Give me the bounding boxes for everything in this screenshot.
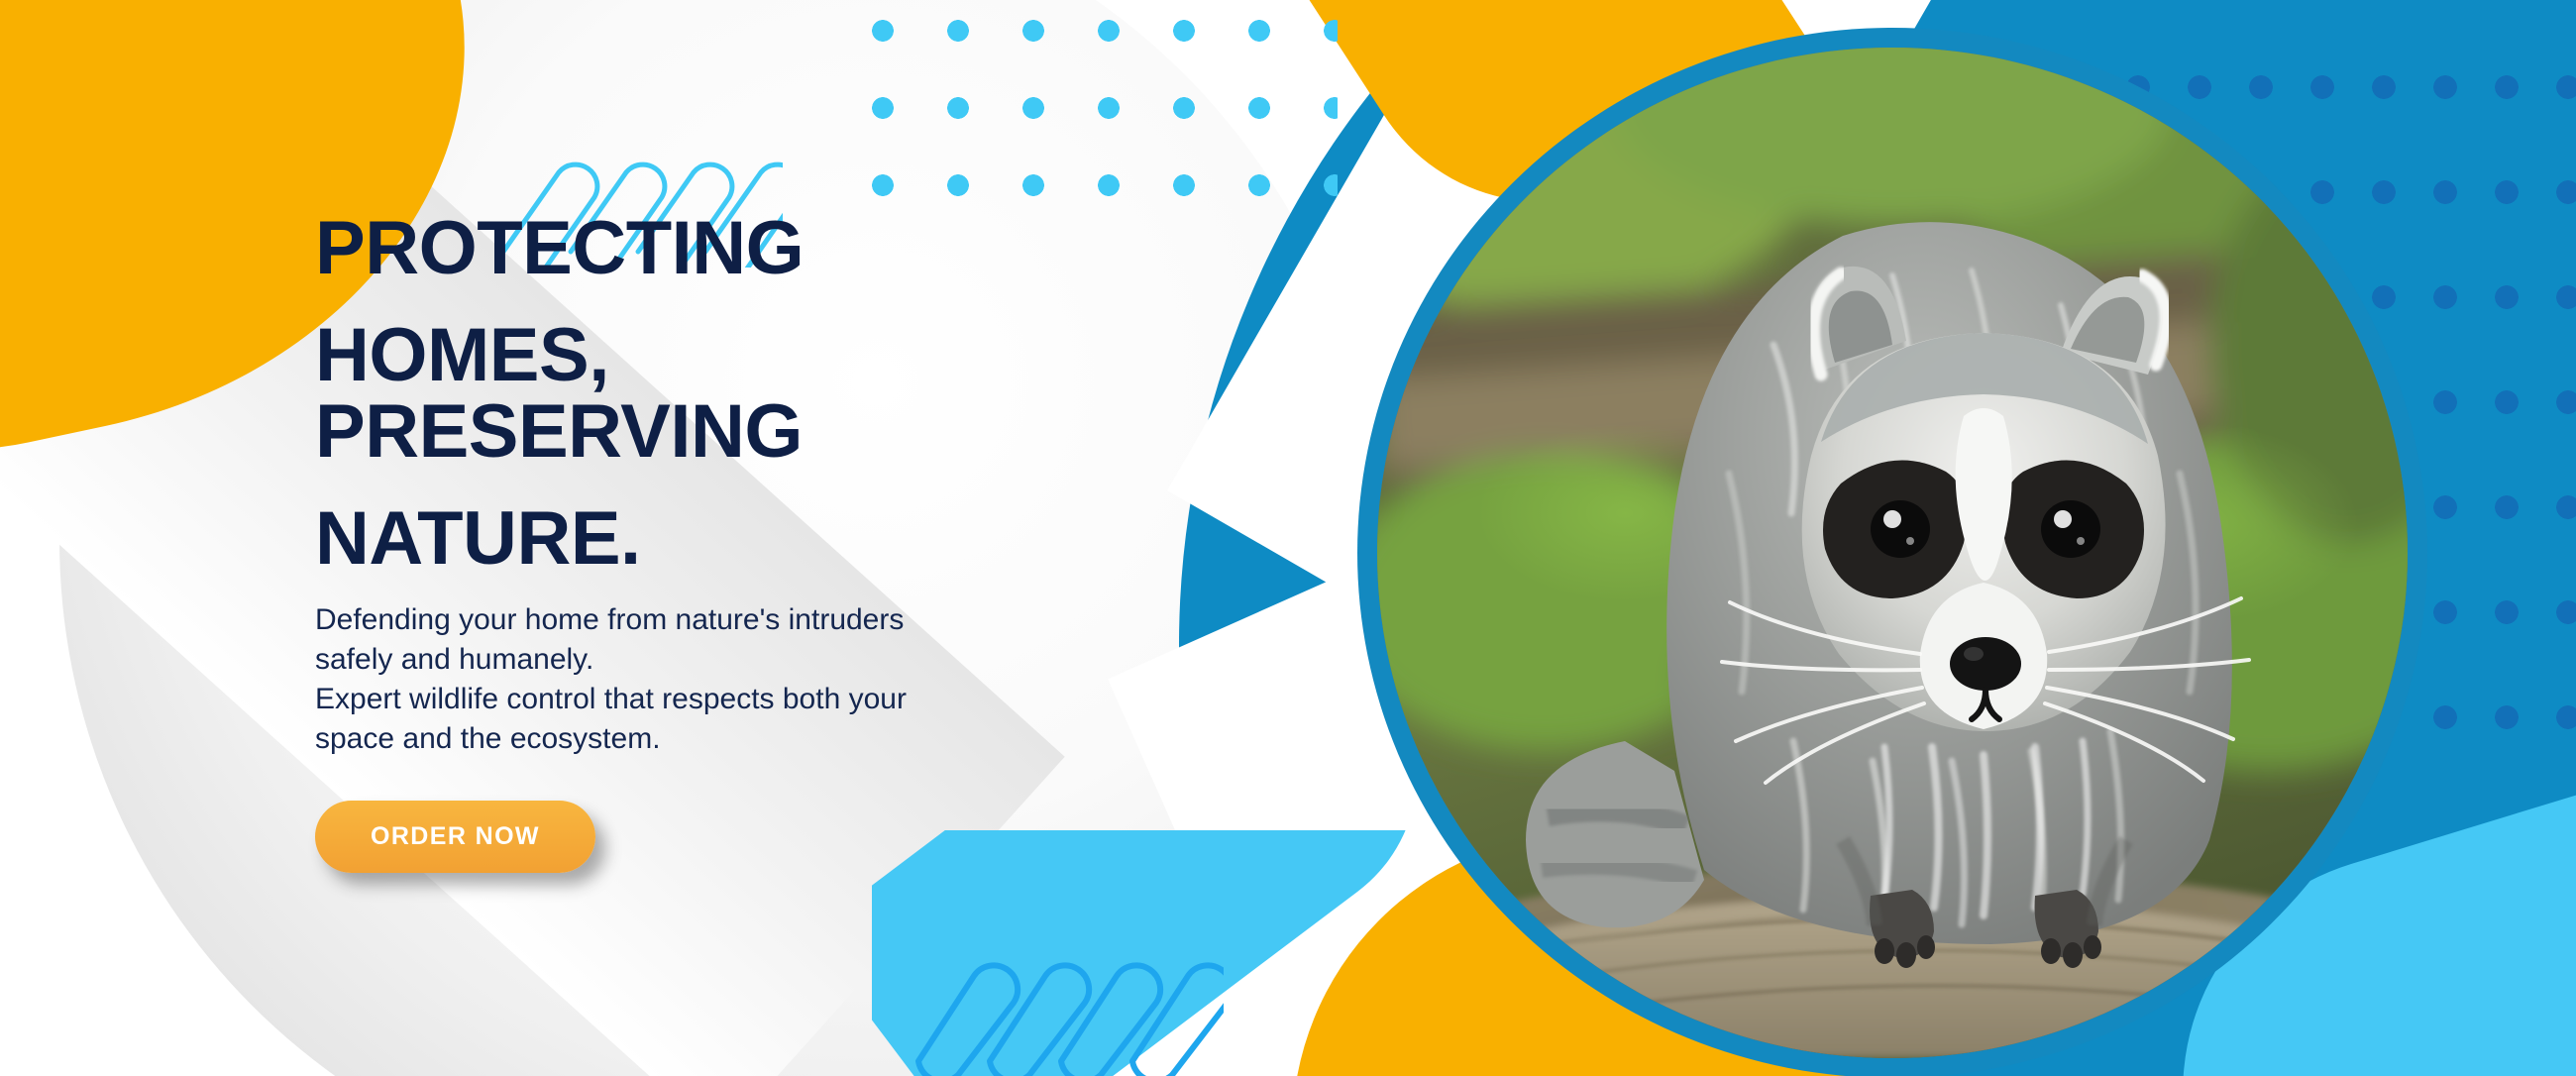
subcopy-line-4: space and the ecosystem.: [315, 719, 1127, 759]
headline-line-1: PROTECTING: [315, 210, 1127, 287]
subcopy-line-1: Defending your home from nature's intrud…: [315, 600, 1127, 640]
order-now-button[interactable]: ORDER NOW: [315, 801, 595, 873]
headline-line-3: PRESERVING: [315, 393, 1127, 471]
subcopy-line-2: safely and humanely.: [315, 640, 1127, 680]
hero-banner: PROTECTING HOMES, PRESERVING NATURE. Def…: [0, 0, 2576, 1076]
headline-line-4: NATURE.: [315, 500, 1127, 578]
hero-content: PROTECTING HOMES, PRESERVING NATURE. Def…: [315, 210, 1127, 873]
cyan-dot-grid: [872, 0, 1338, 200]
page-title: PROTECTING HOMES, PRESERVING NATURE.: [315, 210, 1127, 577]
headline-line-2: HOMES,: [315, 317, 1127, 394]
subcopy-line-3: Expert wildlife control that respects bo…: [315, 680, 1127, 719]
hero-subcopy: Defending your home from nature's intrud…: [315, 600, 1127, 759]
cyan-squiggle-bottom: [897, 946, 1224, 1076]
raccoon-photo: [1377, 48, 2408, 1058]
